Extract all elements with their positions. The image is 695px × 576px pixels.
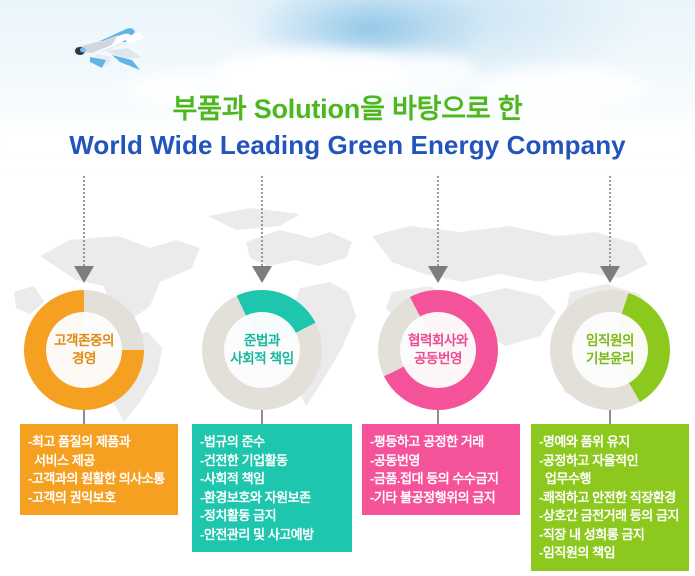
detail-list-item: -환경보호와 자원보존	[200, 489, 345, 508]
detail-list-item: -평등하고 공정한 거래	[370, 433, 513, 452]
airplane-icon	[62, 24, 167, 80]
detail-list-item: -쾌적하고 안전한 직장환경	[539, 489, 682, 508]
detail-list-item: -금품.접대 등의 수수금지	[370, 470, 513, 489]
detail-list-item: -직장 내 성희롱 금지	[539, 526, 682, 545]
infographic-canvas: 부품과 Solution을 바탕으로 한 World Wide Leading …	[0, 0, 695, 576]
pillar-detail-box-employee-ethics: -명예와 품위 유지-공정하고 자율적인업무수행-쾌적하고 안전한 직장환경-상…	[531, 424, 689, 571]
pillar-label-line1: 준법과	[244, 332, 280, 350]
pillar-circle-inner: 임직원의기본윤리	[572, 312, 648, 388]
pillar-circle-compliance-social-responsibility[interactable]: 준법과사회적 책임	[202, 290, 322, 410]
dotted-connector-line	[261, 176, 263, 266]
detail-list-item: -공동번영	[370, 452, 513, 471]
pillar-detail-box-compliance-social-responsibility: -법규의 준수-건전한 기업활동-사회적 책임-환경보호와 자원보존-정치활동 …	[192, 424, 352, 552]
down-arrow-icon	[252, 266, 272, 283]
cloud-shape	[330, 52, 480, 96]
dotted-connector-line	[609, 176, 611, 266]
pillar-circle-inner: 준법과사회적 책임	[224, 312, 300, 388]
title-block: 부품과 Solution을 바탕으로 한 World Wide Leading …	[0, 92, 695, 161]
pillar-label-line2: 사회적 책임	[230, 350, 293, 368]
detail-list-item: -사회적 책임	[200, 470, 345, 489]
page-title-korean: 부품과 Solution을 바탕으로 한	[0, 92, 695, 126]
down-arrow-icon	[428, 266, 448, 283]
detail-list-item: -상호간 금전거래 등의 금지	[539, 507, 682, 526]
detail-list-item: -최고 품질의 제품과	[28, 433, 171, 452]
pillar-label-line2: 경영	[72, 350, 96, 368]
box-connector-stem	[261, 410, 263, 424]
pillar-label-line1: 협력회사와	[408, 332, 468, 350]
detail-list-item: -건전한 기업활동	[200, 452, 345, 471]
down-arrow-icon	[74, 266, 94, 283]
box-connector-stem	[609, 410, 611, 424]
dotted-connector-line	[437, 176, 439, 266]
pillar-circle-inner: 고객존중의경영	[46, 312, 122, 388]
pillar-circle-inner: 협력회사와공동번영	[400, 312, 476, 388]
pillar-label-line2: 기본윤리	[586, 350, 634, 368]
detail-list-item: -안전관리 및 사고예방	[200, 526, 345, 545]
pillar-circle-partner-coprosperity[interactable]: 협력회사와공동번영	[378, 290, 498, 410]
page-title-english: World Wide Leading Green Energy Company	[0, 129, 695, 161]
down-arrow-icon	[600, 266, 620, 283]
box-connector-stem	[83, 410, 85, 424]
detail-list-item: 서비스 제공	[28, 452, 171, 471]
detail-list-item: -임직원의 책임	[539, 544, 682, 563]
detail-list-item: -공정하고 자율적인	[539, 452, 682, 471]
detail-list-item: -정치활동 금지	[200, 507, 345, 526]
detail-list-item: -고객과의 원활한 의사소통	[28, 470, 171, 489]
pillar-label-line2: 공동번영	[414, 350, 462, 368]
detail-list-item: -법규의 준수	[200, 433, 345, 452]
pillar-label-line1: 임직원의	[586, 332, 634, 350]
detail-list-item: -고객의 권익보호	[28, 489, 171, 508]
pillar-detail-box-partner-coprosperity: -평등하고 공정한 거래-공동번영-금품.접대 등의 수수금지-기타 불공정행위…	[362, 424, 520, 515]
pillar-detail-box-customer-respect: -최고 품질의 제품과서비스 제공-고객과의 원활한 의사소통-고객의 권익보호	[20, 424, 178, 515]
detail-list-item: -기타 불공정행위의 금지	[370, 489, 513, 508]
box-connector-stem	[437, 410, 439, 424]
pillar-circle-customer-respect[interactable]: 고객존중의경영	[24, 290, 144, 410]
pillar-label-line1: 고객존중의	[54, 332, 114, 350]
detail-list-item: -명예와 품위 유지	[539, 433, 682, 452]
pillar-circle-employee-ethics[interactable]: 임직원의기본윤리	[550, 290, 670, 410]
dotted-connector-line	[83, 176, 85, 266]
detail-list-item: 업무수행	[539, 470, 682, 489]
